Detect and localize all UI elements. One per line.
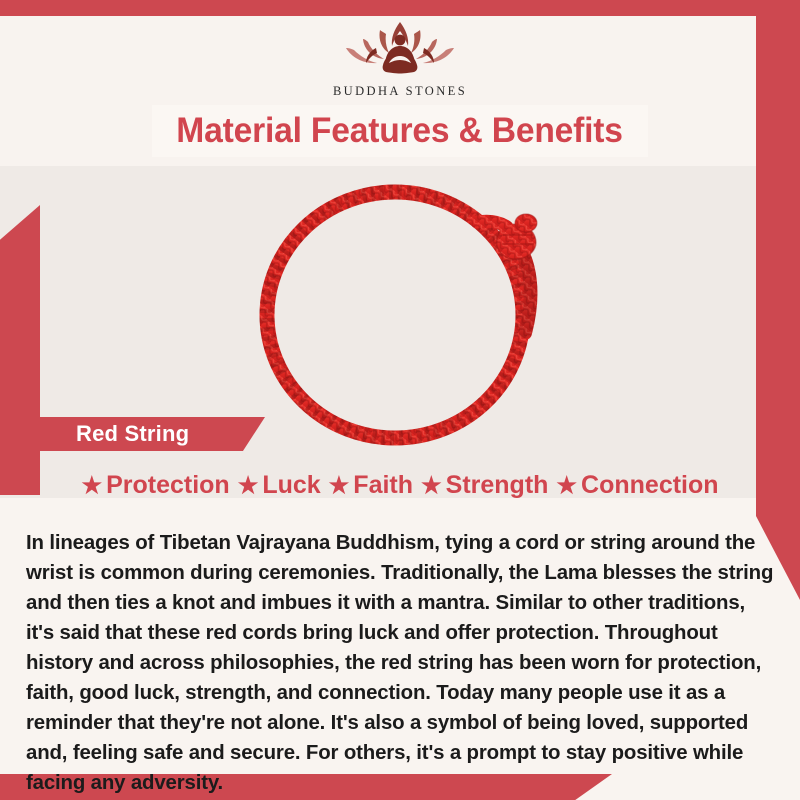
benefit-label: Connection <box>581 471 719 500</box>
benefit-item: ★ Protection <box>81 471 229 500</box>
brand-logo: BUDDHA STONES <box>0 18 800 99</box>
benefit-label: Luck <box>262 471 320 500</box>
brand-name: BUDDHA STONES <box>333 84 467 99</box>
page-title: Material Features & Benefits <box>177 111 624 151</box>
benefit-label: Strength <box>446 471 549 500</box>
product-label-banner: Red String <box>20 417 265 451</box>
star-icon: ★ <box>81 474 102 497</box>
benefit-label: Faith <box>353 471 413 500</box>
benefits-list: ★ Protection ★ Luck ★ Faith ★ Strength ★… <box>0 466 800 504</box>
benefit-item: ★ Faith <box>329 471 413 500</box>
infographic-page: BUDDHA STONES Material Features & Benefi… <box>0 0 800 800</box>
benefit-item: ★ Connection <box>556 471 718 500</box>
description-text: In lineages of Tibetan Vajrayana Buddhis… <box>0 528 800 798</box>
star-icon: ★ <box>238 474 259 497</box>
benefit-item: ★ Luck <box>238 471 321 500</box>
product-image <box>215 165 595 455</box>
star-icon: ★ <box>556 474 577 497</box>
lotus-meditation-figure-icon <box>336 18 464 80</box>
top-red-strip <box>0 0 800 16</box>
left-red-band <box>0 205 40 495</box>
benefit-label: Protection <box>106 471 230 500</box>
product-label: Red String <box>76 421 189 447</box>
title-banner: Material Features & Benefits <box>152 105 648 157</box>
star-icon: ★ <box>421 474 442 497</box>
benefit-item: ★ Strength <box>421 471 548 500</box>
star-icon: ★ <box>329 474 350 497</box>
